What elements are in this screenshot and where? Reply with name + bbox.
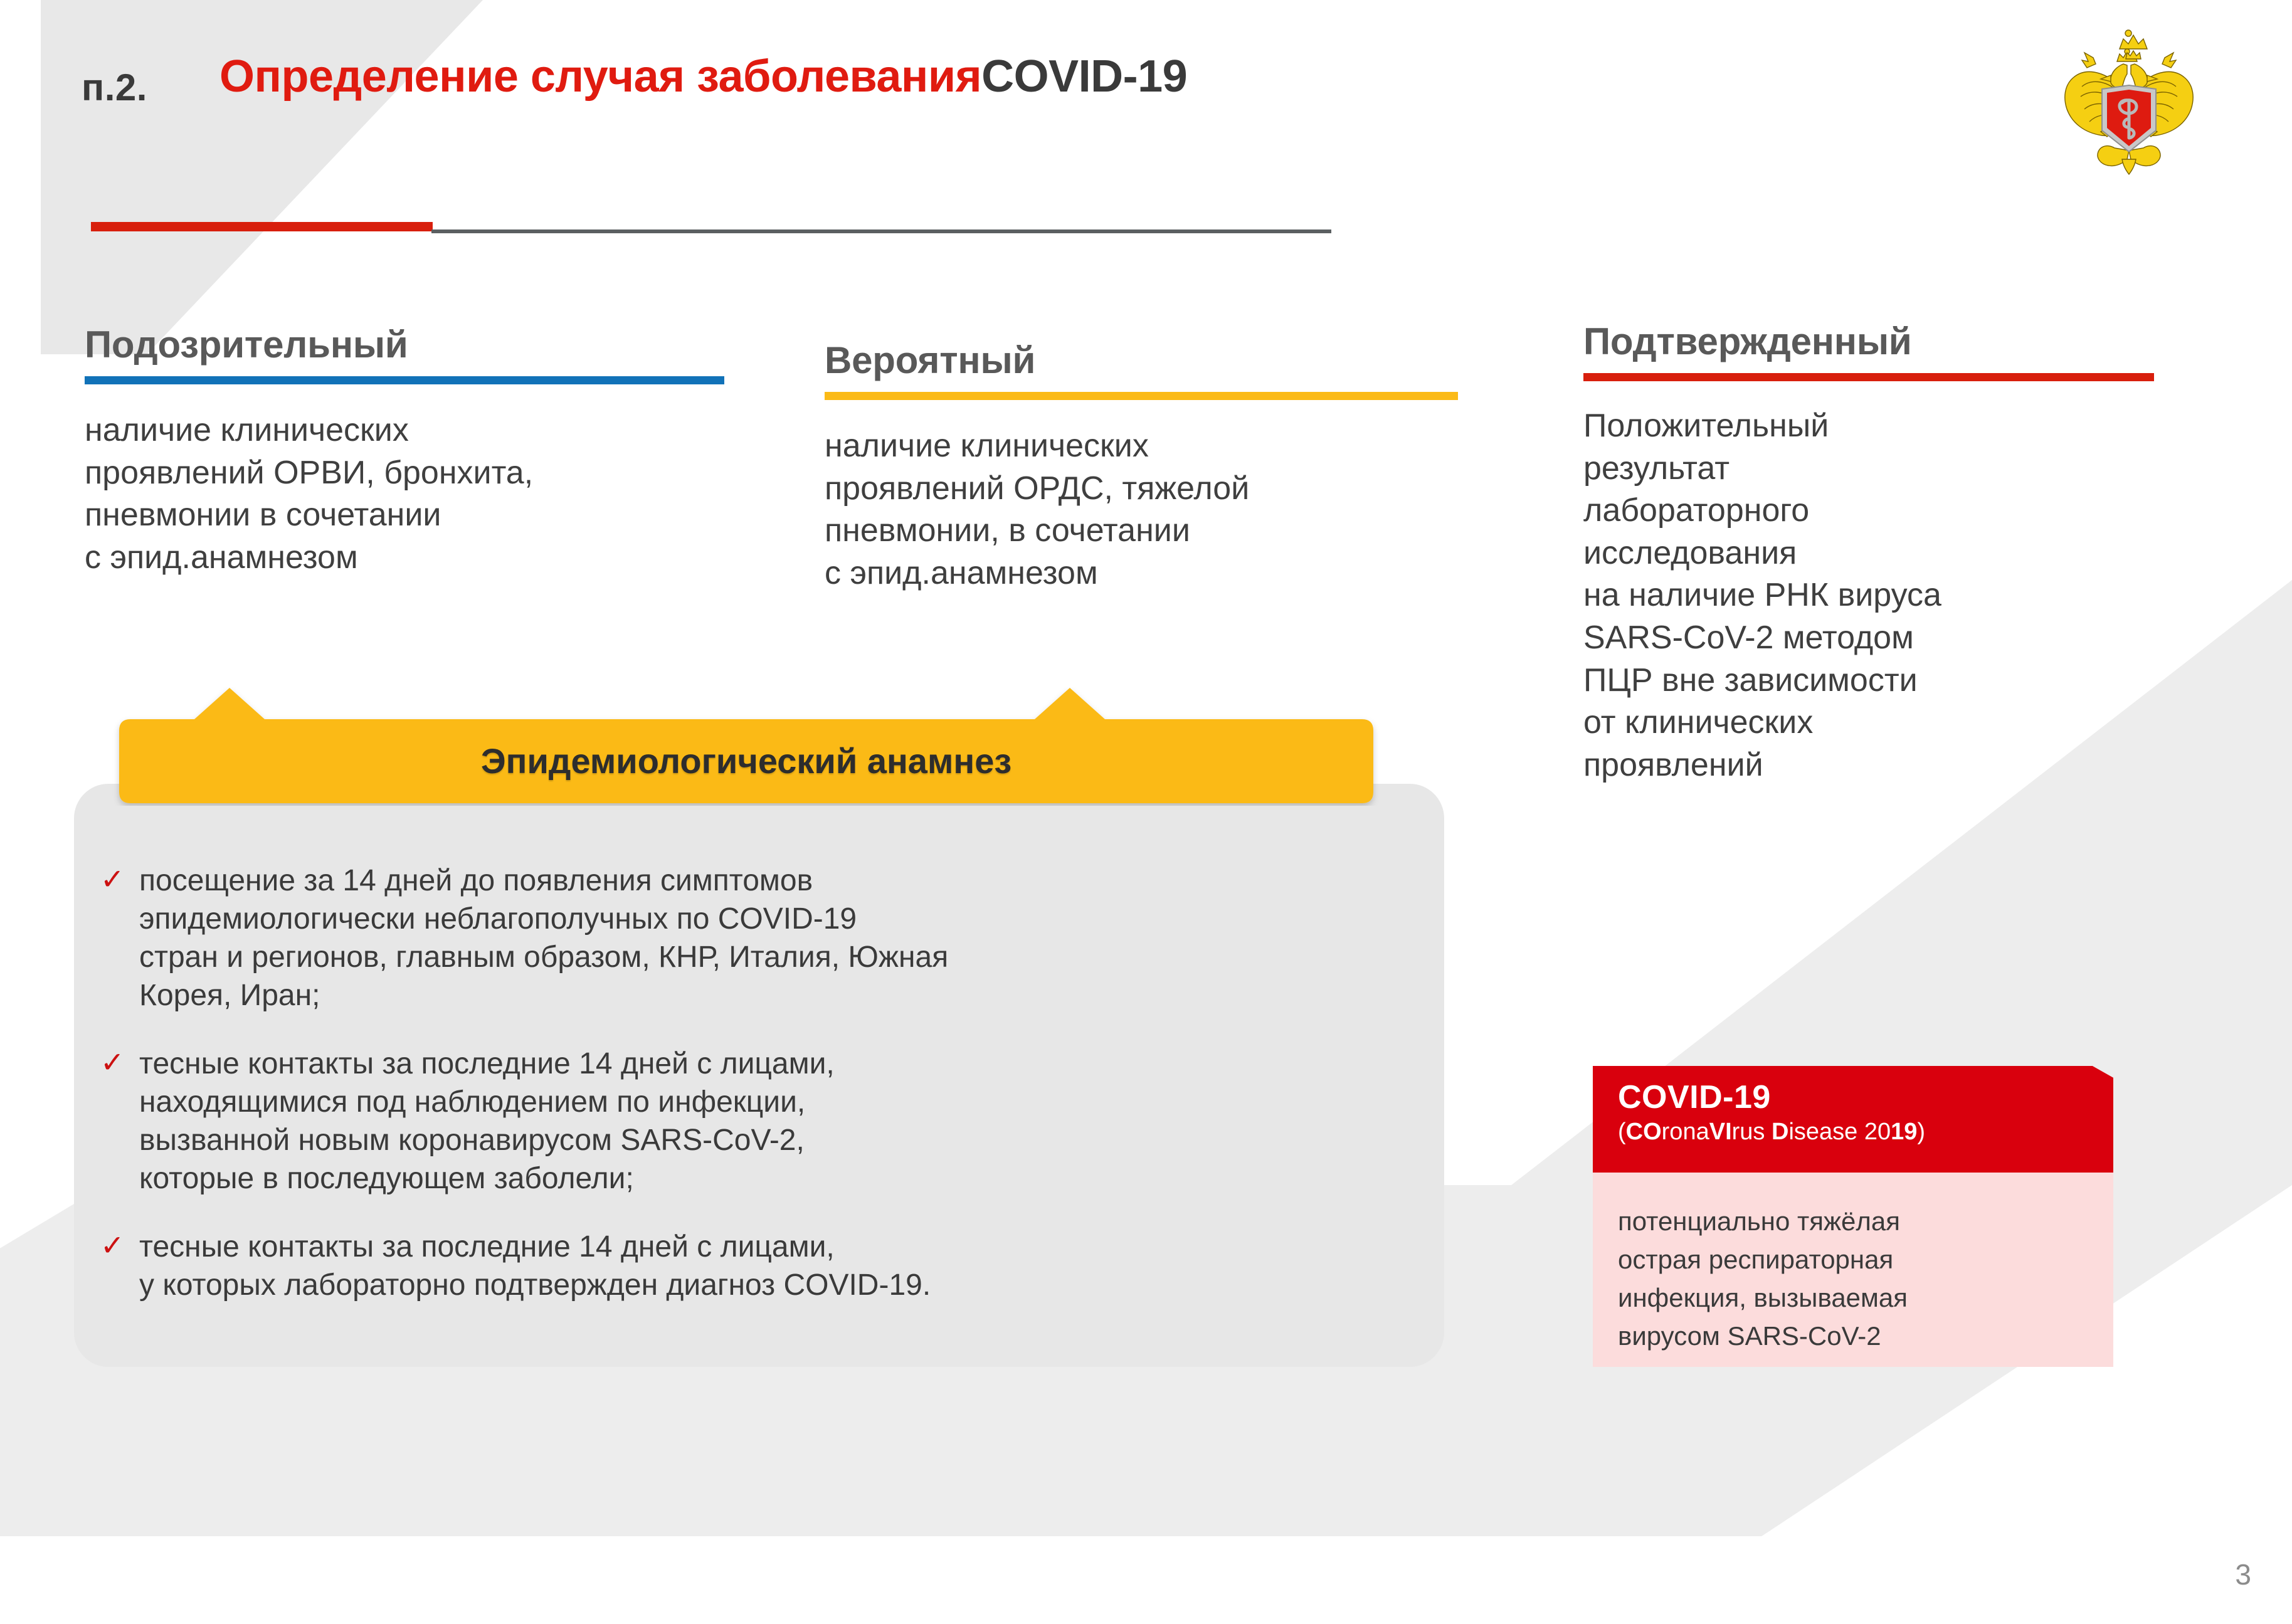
case-column-confirmed: Подтвержденный Положительный результат л… bbox=[1583, 320, 2210, 786]
covid-definition-card: COVID-19 (COronaVIrus Disease 2019) поте… bbox=[1593, 1066, 2113, 1367]
russian-health-emblem-icon bbox=[2057, 25, 2201, 194]
covid-card-header: COVID-19 (COronaVIrus Disease 2019) bbox=[1593, 1066, 2113, 1173]
column-heading-probable: Вероятный bbox=[825, 339, 1477, 382]
case-column-suspected: Подозрительный наличие клинических прояв… bbox=[85, 323, 737, 579]
list-item: ✓ тесные контакты за последние 14 дней с… bbox=[100, 1228, 1405, 1305]
covid-expansion-close: ) bbox=[1917, 1119, 1925, 1145]
banner-label: Эпидемиологический анамнез bbox=[100, 741, 1392, 781]
column-body-suspected: наличие клинических проявлений ОРВИ, бро… bbox=[85, 409, 737, 579]
covid-expansion-open: ( bbox=[1618, 1119, 1626, 1145]
covid-expansion-vi: VI bbox=[1709, 1119, 1732, 1145]
column-body-confirmed: Положительный результат лабораторного ис… bbox=[1583, 405, 2210, 786]
column-heading-suspected: Подозрительный bbox=[85, 323, 737, 366]
page-title-red: Определение случая заболевания bbox=[219, 51, 981, 102]
list-item-text: тесные контакты за последние 14 дней с л… bbox=[139, 1228, 931, 1305]
list-item-text: посещение за 14 дней до появления симпто… bbox=[139, 862, 948, 1015]
case-column-probable: Вероятный наличие клинических проявлений… bbox=[825, 339, 1477, 594]
column-accent-rule-suspected bbox=[85, 376, 724, 384]
page-number: 3 bbox=[2235, 1558, 2251, 1591]
check-mark-icon: ✓ bbox=[100, 1045, 139, 1198]
slide-header: п.2. Определение случая заболеванияCOVID… bbox=[0, 0, 2292, 251]
section-number: п.2. bbox=[82, 66, 147, 109]
header-rule-grey bbox=[431, 229, 1331, 233]
covid-expansion-19: 19 bbox=[1891, 1119, 1917, 1145]
list-item: ✓ посещение за 14 дней до появления симп… bbox=[100, 862, 1405, 1015]
check-mark-icon: ✓ bbox=[100, 1228, 139, 1305]
column-heading-confirmed: Подтвержденный bbox=[1583, 320, 2210, 363]
column-body-probable: наличие клинических проявлений ОРДС, тяж… bbox=[825, 425, 1477, 594]
covid-expansion-d: D bbox=[1772, 1119, 1788, 1145]
list-item-text: тесные контакты за последние 14 дней с л… bbox=[139, 1045, 835, 1198]
check-mark-icon: ✓ bbox=[100, 862, 139, 1015]
epidemiological-criteria-list: ✓ посещение за 14 дней до появления симп… bbox=[100, 862, 1405, 1305]
page-title: Определение случая заболеванияCOVID-19 bbox=[219, 50, 1187, 103]
covid-card-description: потенциально тяжёлая острая респираторна… bbox=[1593, 1173, 2113, 1367]
epidemiological-history-banner: Эпидемиологический анамнез bbox=[100, 687, 1392, 806]
covid-expansion-rus: rus bbox=[1732, 1119, 1772, 1145]
covid-card-expansion: (COronaVIrus Disease 2019) bbox=[1618, 1120, 2113, 1144]
covid-card-title: COVID-19 bbox=[1618, 1081, 2113, 1114]
covid-expansion-co: CO bbox=[1626, 1119, 1662, 1145]
page-title-dark: COVID-19 bbox=[981, 51, 1187, 102]
column-accent-rule-confirmed bbox=[1583, 373, 2154, 381]
covid-expansion-isease: isease 20 bbox=[1788, 1119, 1891, 1145]
header-rule-red bbox=[91, 222, 433, 231]
covid-expansion-rona: rona bbox=[1662, 1119, 1709, 1145]
column-accent-rule-probable bbox=[825, 392, 1458, 400]
list-item: ✓ тесные контакты за последние 14 дней с… bbox=[100, 1045, 1405, 1198]
